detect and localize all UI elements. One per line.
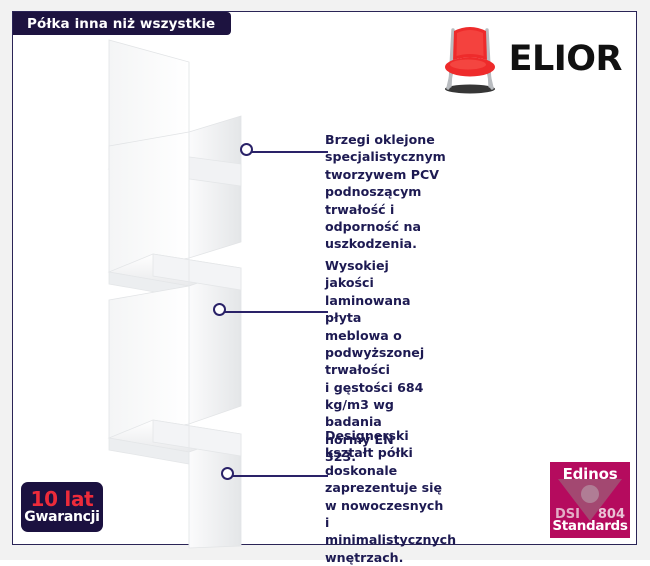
callout-leader-2 (225, 311, 328, 313)
page-title: Półka inna niż wszystkie (27, 16, 215, 32)
red-chair-icon (439, 22, 501, 96)
callout-dot-2[interactable] (213, 303, 226, 316)
infographic-page: Półka inna niż wszystkie ELIOR (0, 0, 650, 560)
callout-leader-3 (233, 475, 328, 477)
content-panel: Półka inna niż wszystkie ELIOR (12, 11, 637, 545)
warranty-years: 10 lat (31, 489, 94, 509)
callout-dot-3[interactable] (221, 467, 234, 480)
edinos-badge: Edinos DSI 804 Standards (550, 462, 630, 538)
callout-leader-1 (252, 151, 328, 153)
warranty-badge: 10 lat Gwarancji (21, 482, 103, 532)
warranty-label: Gwarancji (24, 510, 99, 525)
brand-logo: ELIOR (439, 20, 622, 98)
callout-text-1: Brzegi oklejone specjalistycznym tworzyw… (325, 131, 446, 253)
title-bar: Półka inna niż wszystkie (13, 12, 231, 35)
brand-name: ELIOR (509, 42, 622, 77)
callout-text-3: Designerski kształt półki doskonale zapr… (325, 427, 456, 566)
edinos-standards-label: Standards (550, 518, 630, 534)
callout-dot-1[interactable] (240, 143, 253, 156)
